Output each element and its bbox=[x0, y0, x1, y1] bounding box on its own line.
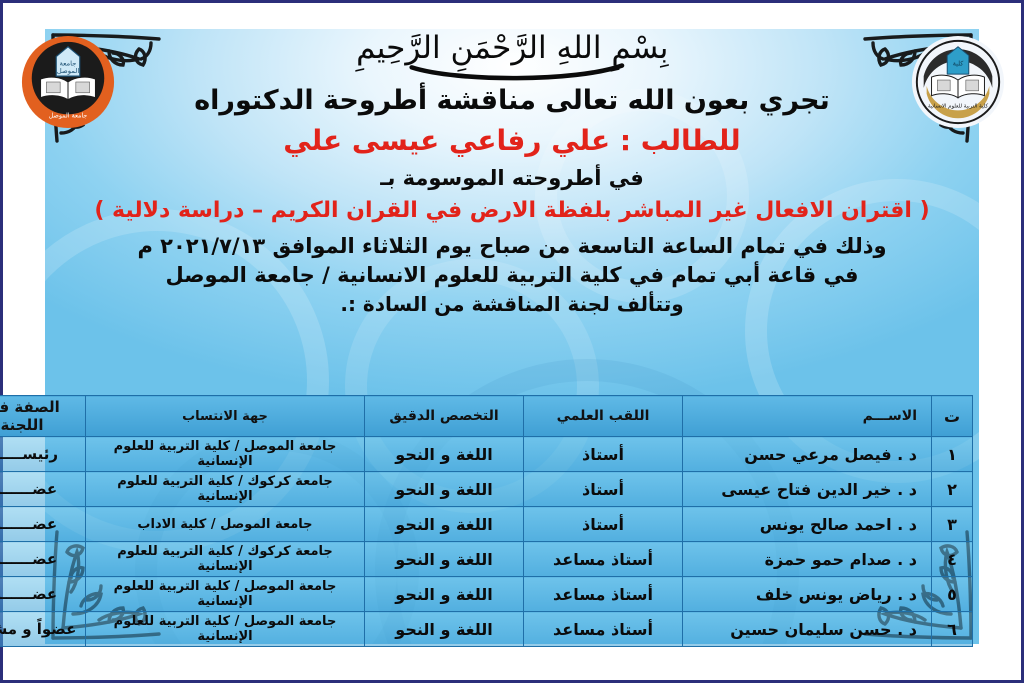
basmala-icon: بِسْمِ اللهِ الرَّحْمَنِ الرَّحِيمِ bbox=[302, 18, 723, 82]
cell-committee-role: عضواً و مشرفاً bbox=[0, 612, 86, 647]
table-head: ت الاســـم اللقب العلمي التخصص الدقيق جه… bbox=[0, 396, 973, 437]
cell-affiliation: جامعة الموصل / كلية التربية للعلوم الإنس… bbox=[86, 577, 365, 612]
column-header-name: الاســـم bbox=[683, 396, 932, 437]
column-header-academic-rank: اللقب العلمي bbox=[524, 396, 683, 437]
cell-specialization: اللغة و النحو bbox=[365, 612, 524, 647]
cell-committee-role: عضــــــواً bbox=[0, 542, 86, 577]
column-header-index: ت bbox=[932, 396, 973, 437]
cell-committee-role: عضــــــواً bbox=[0, 577, 86, 612]
table-header-row: ت الاســـم اللقب العلمي التخصص الدقيق جه… bbox=[0, 396, 973, 437]
cell-specialization: اللغة و النحو bbox=[365, 507, 524, 542]
cell-index: ٥ bbox=[932, 577, 973, 612]
cell-academic-rank: أستاذ bbox=[524, 437, 683, 472]
announcement-poster: جامعة الموصل جامعة الموصل كلية كلية التر… bbox=[0, 0, 1024, 683]
cell-affiliation: جامعة كركوك / كلية التربية للعلوم الإنسا… bbox=[86, 542, 365, 577]
datetime-line: وذلك في تمام الساعة التاسعة من صباح يوم … bbox=[3, 234, 1021, 258]
cell-name: د . حسن سليمان حسين bbox=[683, 612, 932, 647]
cell-academic-rank: أستاذ مساعد bbox=[524, 577, 683, 612]
cell-index: ٤ bbox=[932, 542, 973, 577]
table-body: ١ د . فيصل مرعي حسن أستاذ اللغة و النحو … bbox=[0, 437, 973, 647]
cell-affiliation: جامعة الموصل / كلية التربية للعلوم الإنس… bbox=[86, 437, 365, 472]
cell-name: د . رياض يونس خلف bbox=[683, 577, 932, 612]
venue-line: في قاعة أبي تمام في كلية التربية للعلوم … bbox=[3, 263, 1021, 287]
column-header-committee-role: الصفة في اللجنة bbox=[0, 396, 86, 437]
cell-academic-rank: أستاذ مساعد bbox=[524, 542, 683, 577]
cell-specialization: اللغة و النحو bbox=[365, 542, 524, 577]
cell-index: ٣ bbox=[932, 507, 973, 542]
table-row: ٣ د . احمد صالح يونس أستاذ اللغة و النحو… bbox=[0, 507, 973, 542]
cell-specialization: اللغة و النحو bbox=[365, 577, 524, 612]
student-name-line: للطالب : علي رفاعي عيسى علي bbox=[3, 125, 1021, 157]
table-row: ٢ د . خير الدين فتاح عيسى أستاذ اللغة و … bbox=[0, 472, 973, 507]
committee-table: ت الاســـم اللقب العلمي التخصص الدقيق جه… bbox=[0, 395, 973, 647]
cell-academic-rank: أستاذ bbox=[524, 507, 683, 542]
committee-intro-line: وتتألف لجنة المناقشة من السادة :. bbox=[3, 293, 1021, 316]
headline: تجري بعون الله تعالى مناقشة أطروحة الدكت… bbox=[3, 85, 1021, 116]
cell-name: د . خير الدين فتاح عيسى bbox=[683, 472, 932, 507]
column-header-affiliation: جهة الانتساب bbox=[86, 396, 365, 437]
cell-index: ١ bbox=[932, 437, 973, 472]
poster-content: بِسْمِ اللهِ الرَّحْمَنِ الرَّحِيمِ تجري… bbox=[3, 3, 1021, 316]
table-row: ١ د . فيصل مرعي حسن أستاذ اللغة و النحو … bbox=[0, 437, 973, 472]
cell-specialization: اللغة و النحو bbox=[365, 472, 524, 507]
thesis-title: ( اقتران الافعال غير المباشر بلفظة الارض… bbox=[3, 198, 1021, 223]
table-row: ٤ د . صدام حمو حمزة أستاذ مساعد اللغة و … bbox=[0, 542, 973, 577]
column-header-specialization: التخصص الدقيق bbox=[365, 396, 524, 437]
cell-specialization: اللغة و النحو bbox=[365, 437, 524, 472]
committee-table-wrapper: ت الاســـم اللقب العلمي التخصص الدقيق جه… bbox=[51, 395, 973, 647]
cell-index: ٦ bbox=[932, 612, 973, 647]
table-row: ٦ د . حسن سليمان حسين أستاذ مساعد اللغة … bbox=[0, 612, 973, 647]
cell-affiliation: جامعة الموصل / كلية الاداب bbox=[86, 507, 365, 542]
cell-committee-role: رئيســــــاً bbox=[0, 437, 86, 472]
cell-academic-rank: أستاذ مساعد bbox=[524, 612, 683, 647]
basmala-calligraphy: بِسْمِ اللهِ الرَّحْمَنِ الرَّحِيمِ bbox=[3, 17, 1021, 83]
cell-academic-rank: أستاذ bbox=[524, 472, 683, 507]
thesis-intro-line: في أطروحته الموسومة بـ bbox=[3, 166, 1021, 190]
cell-committee-role: عضــــــواً bbox=[0, 472, 86, 507]
cell-name: د . صدام حمو حمزة bbox=[683, 542, 932, 577]
cell-committee-role: عضــــــواً bbox=[0, 507, 86, 542]
cell-affiliation: جامعة كركوك / كلية التربية للعلوم الإنسا… bbox=[86, 472, 365, 507]
cell-name: د . فيصل مرعي حسن bbox=[683, 437, 932, 472]
table-row: ٥ د . رياض يونس خلف أستاذ مساعد اللغة و … bbox=[0, 577, 973, 612]
cell-name: د . احمد صالح يونس bbox=[683, 507, 932, 542]
cell-affiliation: جامعة الموصل / كلية التربية للعلوم الإنس… bbox=[86, 612, 365, 647]
cell-index: ٢ bbox=[932, 472, 973, 507]
